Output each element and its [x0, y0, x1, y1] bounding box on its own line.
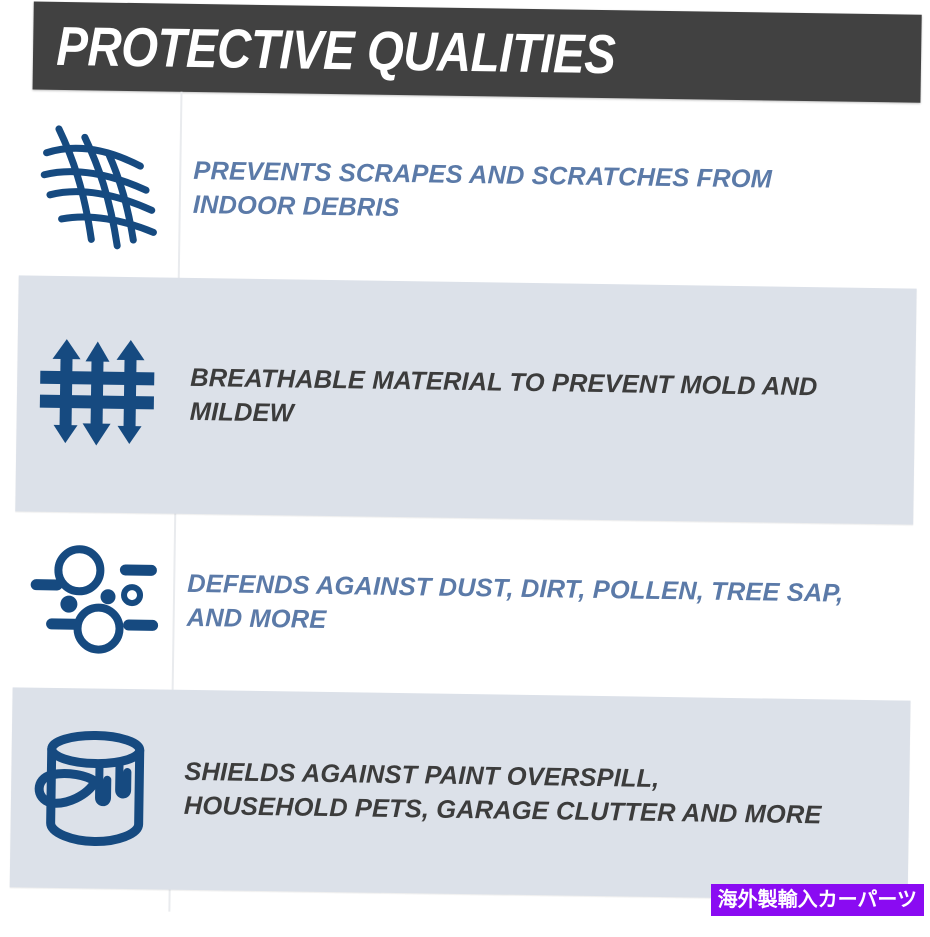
header-banner: PROTECTIVE QUALITIES — [33, 2, 922, 103]
paint-can-icon — [28, 722, 154, 855]
feature-icon-cell — [13, 541, 174, 660]
feature-text: DEFENDS AGAINST DUST, DIRT, POLLEN, TREE… — [172, 568, 912, 646]
feature-icon-cell — [16, 336, 177, 453]
feature-text: BREATHABLE MATERIAL TO PREVENT MOLD AND … — [175, 362, 915, 440]
feature-text: SHIELDS AGAINST PAINT OVERSPILL, HOUSEHO… — [170, 756, 910, 834]
feature-text: PREVENTS SCRAPES AND SCRATCHES FROM INDO… — [179, 155, 919, 233]
watermark-badge: 海外製輸入カーパーツ — [711, 884, 924, 916]
feature-row: SHIELDS AGAINST PAINT OVERSPILL, HOUSEHO… — [10, 687, 911, 900]
feature-icon-cell — [10, 722, 171, 855]
feature-row: BREATHABLE MATERIAL TO PREVENT MOLD AND … — [15, 275, 916, 524]
dust-particles-icon — [28, 541, 160, 660]
feature-row: PREVENTS SCRAPES AND SCRATCHES FROM INDO… — [19, 97, 920, 288]
breathable-airflow-icon — [35, 336, 159, 453]
infographic-panel: PROTECTIVE QUALITIES PREVENTS S — [0, 0, 930, 937]
mesh-weave-icon — [35, 118, 165, 257]
page-title: PROTECTIVE QUALITIES — [33, 18, 616, 82]
feature-icon-cell — [19, 118, 180, 257]
feature-row: DEFENDS AGAINST DUST, DIRT, POLLEN, TREE… — [13, 511, 914, 700]
